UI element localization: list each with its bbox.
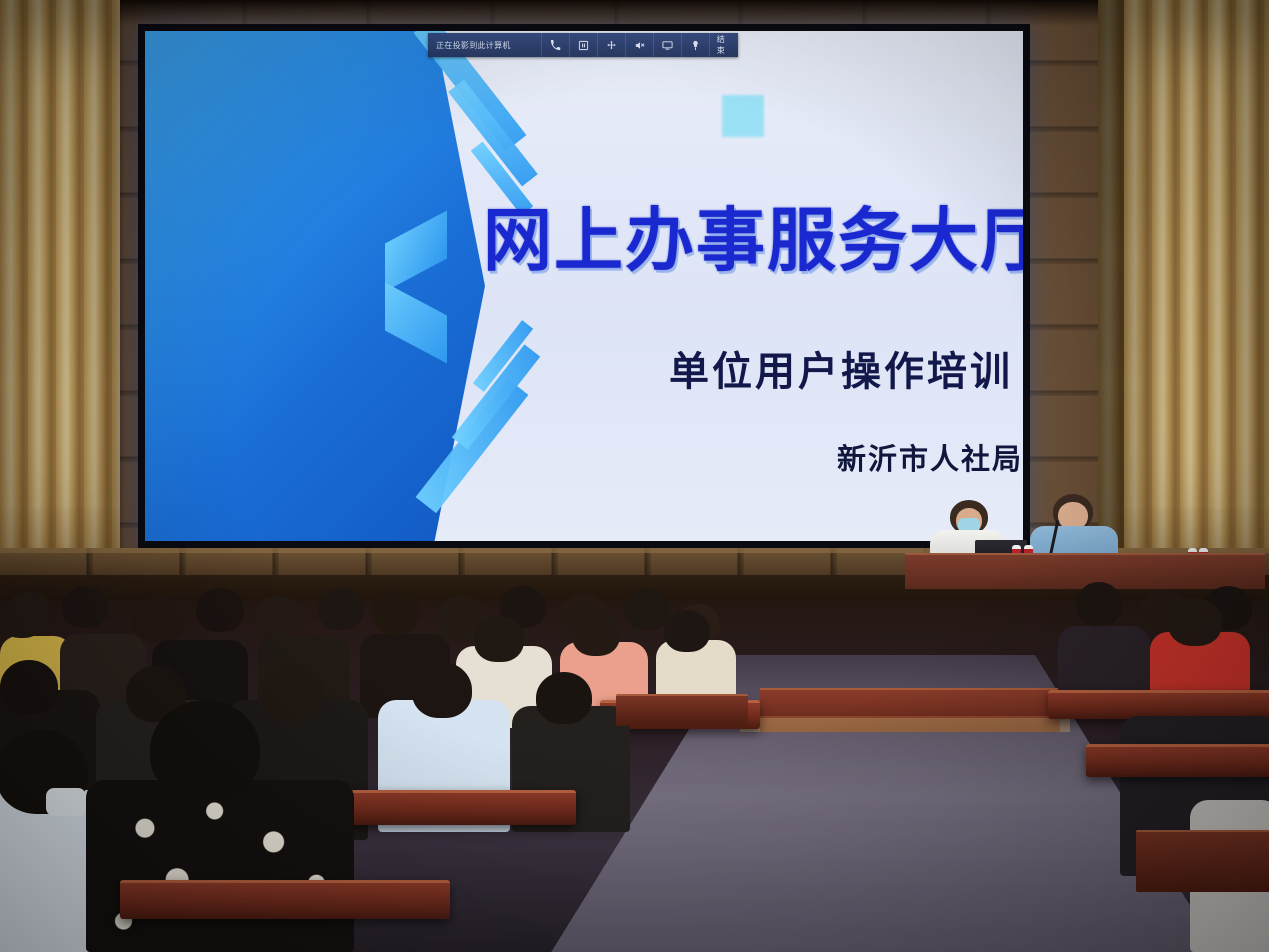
curtain-left bbox=[0, 0, 120, 600]
pew-row-right-3 bbox=[1048, 690, 1269, 719]
slide-subtitle: 单位用户操作培训 bbox=[669, 339, 1023, 397]
ceiling-shadow bbox=[0, 0, 1269, 26]
projection-screen: 网上办事服务大厅 单位用户操作培训 新沂市人社局 正在投影到此计算机 bbox=[145, 31, 1023, 541]
pause-icon[interactable] bbox=[569, 33, 597, 57]
seat-back-right bbox=[1136, 830, 1269, 892]
curtain-right bbox=[1124, 0, 1269, 600]
screen-icon[interactable] bbox=[653, 33, 681, 57]
projection-toolbar: 正在投影到此计算机 bbox=[428, 33, 738, 57]
projection-icon-group bbox=[541, 33, 709, 57]
pew-row-far bbox=[740, 716, 1070, 732]
projection-end-button[interactable]: 结束 bbox=[709, 33, 738, 57]
pew-row-right-2 bbox=[1086, 744, 1269, 777]
face-mask bbox=[46, 788, 86, 816]
pin-icon[interactable] bbox=[681, 33, 709, 57]
mute-icon[interactable] bbox=[625, 33, 653, 57]
photo-scene: 网上办事服务大厅 单位用户操作培训 新沂市人社局 正在投影到此计算机 bbox=[0, 0, 1269, 952]
accent-square bbox=[722, 95, 764, 137]
presenters-table bbox=[905, 553, 1265, 589]
pew-row-front bbox=[120, 880, 450, 919]
seat-back-mid bbox=[616, 694, 748, 726]
slide-graphic bbox=[145, 31, 565, 541]
projection-status-text: 正在投影到此计算机 bbox=[428, 40, 541, 51]
slide-title: 网上办事服务大厅 bbox=[483, 206, 1023, 276]
slide-organization: 新沂市人社局 bbox=[837, 436, 1023, 478]
phone-icon[interactable] bbox=[541, 33, 569, 57]
resize-icon[interactable] bbox=[597, 33, 625, 57]
